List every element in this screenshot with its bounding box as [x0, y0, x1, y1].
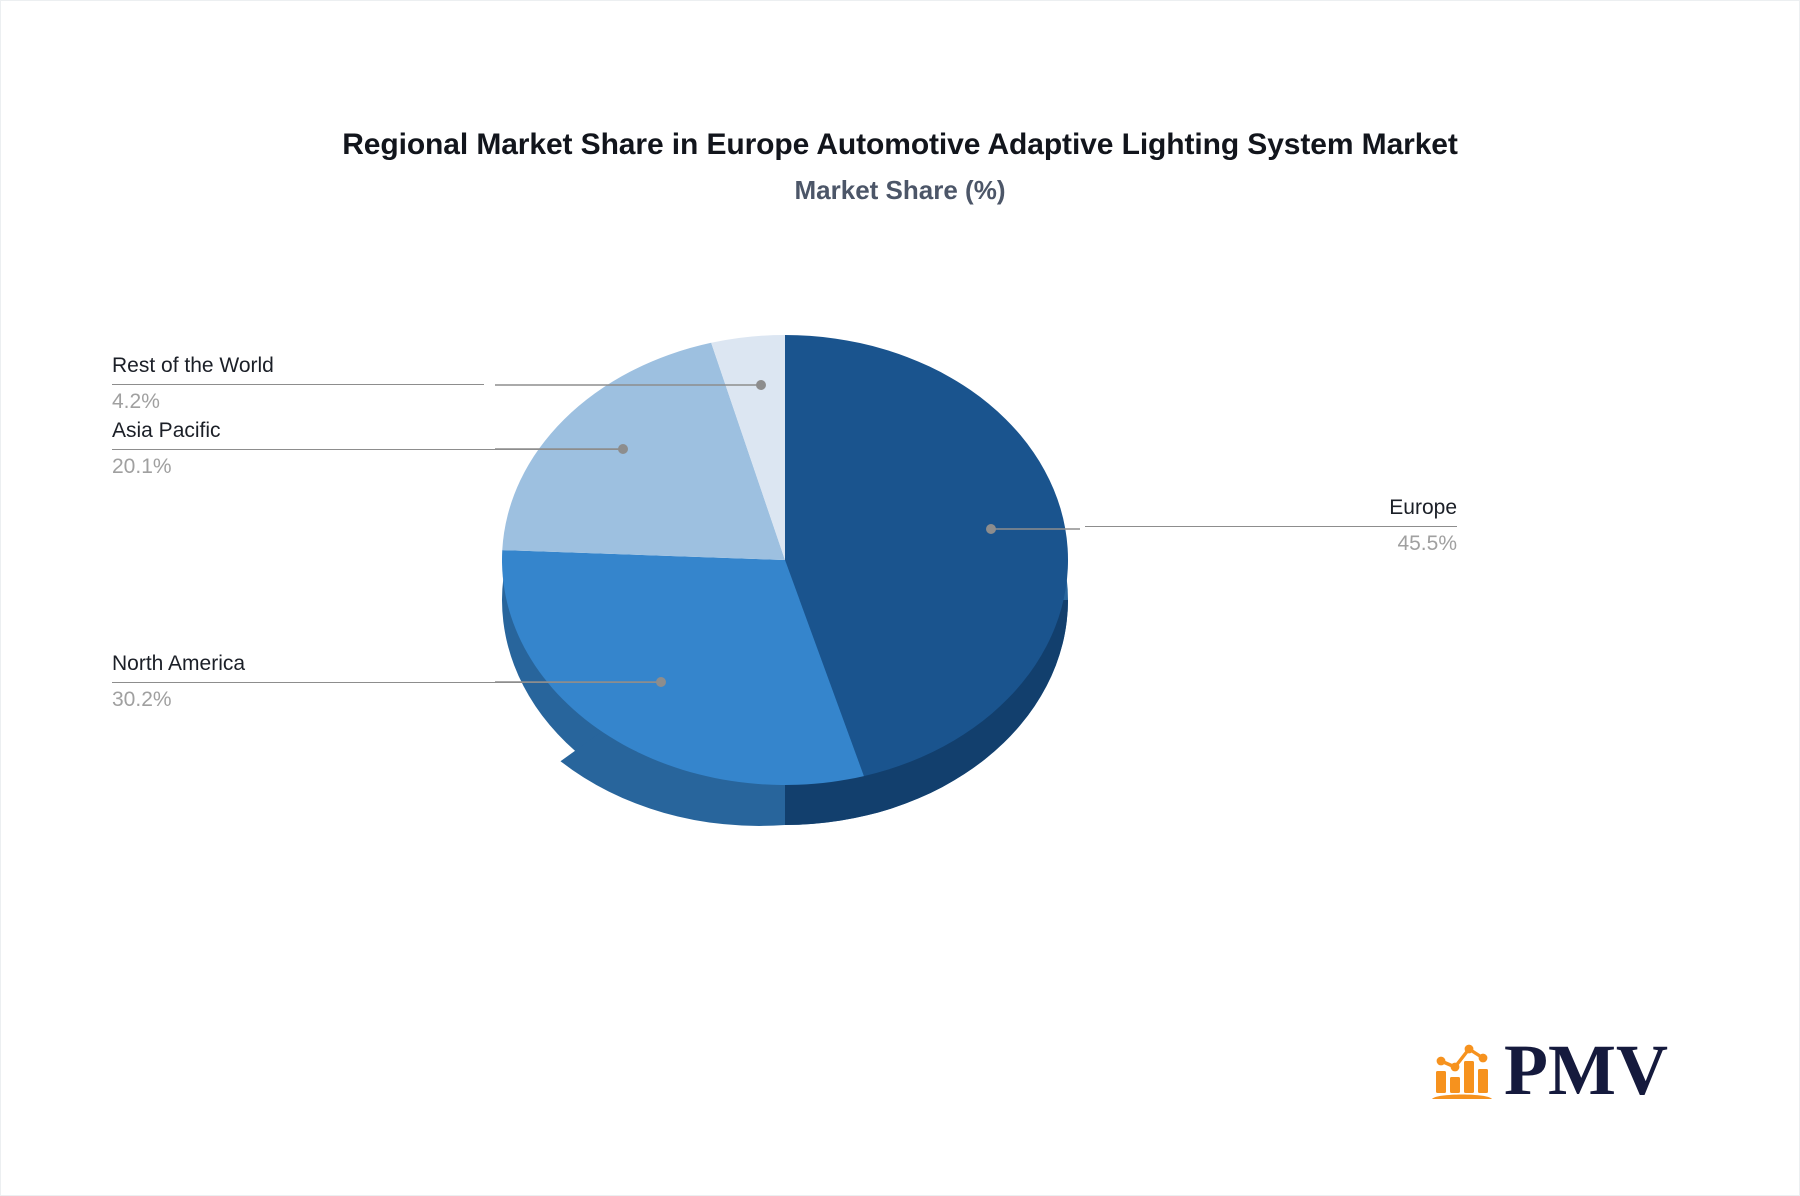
callout-rest-of-the-world: Rest of the World 4.2% [112, 352, 484, 416]
callout-label: North America [112, 650, 660, 678]
callout-asia-pacific: Asia Pacific 20.1% [112, 417, 622, 481]
callout-label: Europe [1085, 494, 1457, 522]
callout-value: 45.5% [1085, 530, 1457, 558]
callout-label: Asia Pacific [112, 417, 622, 445]
callout-north-america: North America 30.2% [112, 650, 660, 714]
pmv-logo: PMV [1430, 1030, 1660, 1110]
chart-title: Regional Market Share in Europe Automoti… [0, 126, 1800, 164]
pie-chart [495, 300, 1080, 840]
chart-canvas: Regional Market Share in Europe Automoti… [0, 0, 1800, 1196]
callout-europe: Europe 45.5% [1085, 494, 1457, 558]
callout-rule [112, 449, 622, 450]
callout-rule [1085, 526, 1457, 527]
chart-subtitle: Market Share (%) [0, 174, 1800, 206]
callout-value: 4.2% [112, 388, 484, 416]
callout-value: 30.2% [112, 686, 660, 714]
callout-label: Rest of the World [112, 352, 484, 380]
title-block: Regional Market Share in Europe Automoti… [0, 126, 1800, 206]
callout-rule [112, 682, 660, 683]
bar-chart-line-icon [1430, 1039, 1494, 1101]
pie-slices [502, 335, 1068, 785]
callout-rule [112, 384, 484, 385]
pie-svg [495, 300, 1080, 840]
callout-value: 20.1% [112, 453, 622, 481]
logo-wordmark: PMV [1504, 1034, 1668, 1106]
